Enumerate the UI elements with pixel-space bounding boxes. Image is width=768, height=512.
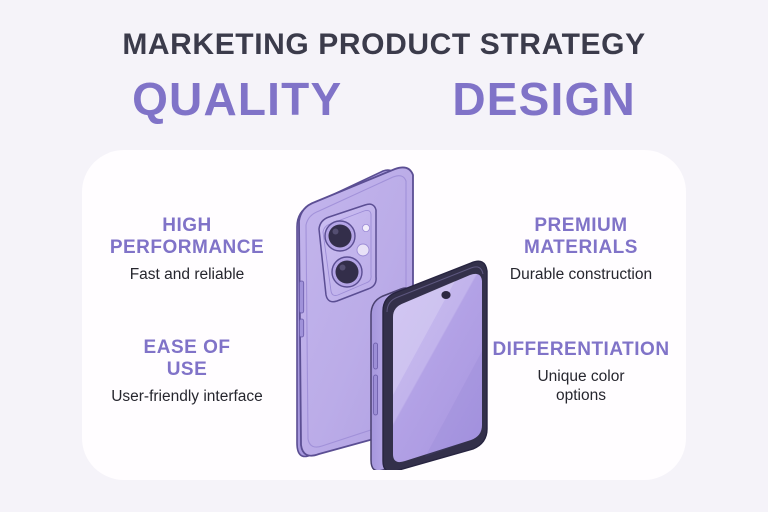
feature-title-line-1: DIFFERENTIATION (492, 339, 669, 360)
column-heading-quality: QUALITY (132, 76, 342, 122)
camera-sensor (357, 244, 369, 256)
feature-title-line-1: EASE OF (144, 337, 231, 358)
smartphones-illustration (275, 155, 495, 470)
feature-description: Fast and reliable (72, 265, 302, 284)
feature-description: User-friendly interface (72, 387, 302, 406)
column-headings: QUALITY DESIGN (0, 76, 768, 122)
feature-title-line-2: PERFORMANCE (110, 237, 264, 258)
feature-premium-materials: PREMIUM MATERIALS Durable construction (466, 215, 696, 284)
feature-ease-of-use: EASE OF USE User-friendly interface (72, 337, 302, 406)
front-camera-punch-hole (441, 291, 450, 299)
feature-title-line-2: USE (167, 359, 208, 380)
rear-camera-module (319, 204, 376, 302)
page-title: MARKETING PRODUCT STRATEGY (0, 28, 768, 62)
feature-title: PREMIUM MATERIALS (466, 215, 696, 259)
feature-high-performance: HIGH PERFORMANCE Fast and reliable (72, 215, 302, 284)
feature-title-line-2: MATERIALS (524, 237, 638, 258)
column-heading-design: DESIGN (452, 76, 636, 122)
feature-title-line-1: HIGH (162, 215, 212, 236)
camera-lens-top (325, 221, 355, 251)
feature-description: Durable construction (466, 265, 696, 284)
feature-title-line-1: PREMIUM (534, 215, 627, 236)
feature-title: DIFFERENTIATION (466, 339, 696, 361)
feature-description-line-2: options (556, 387, 606, 404)
camera-lens-bottom (332, 257, 362, 287)
poster-canvas: MARKETING PRODUCT STRATEGY QUALITY DESIG… (0, 0, 768, 512)
feature-differentiation: DIFFERENTIATION Unique color options (466, 339, 696, 406)
feature-description-line-1: Unique color (537, 368, 624, 385)
feature-title: HIGH PERFORMANCE (72, 215, 302, 259)
feature-title: EASE OF USE (72, 337, 302, 381)
feature-description: Unique color options (466, 367, 696, 406)
camera-flash (362, 224, 369, 231)
